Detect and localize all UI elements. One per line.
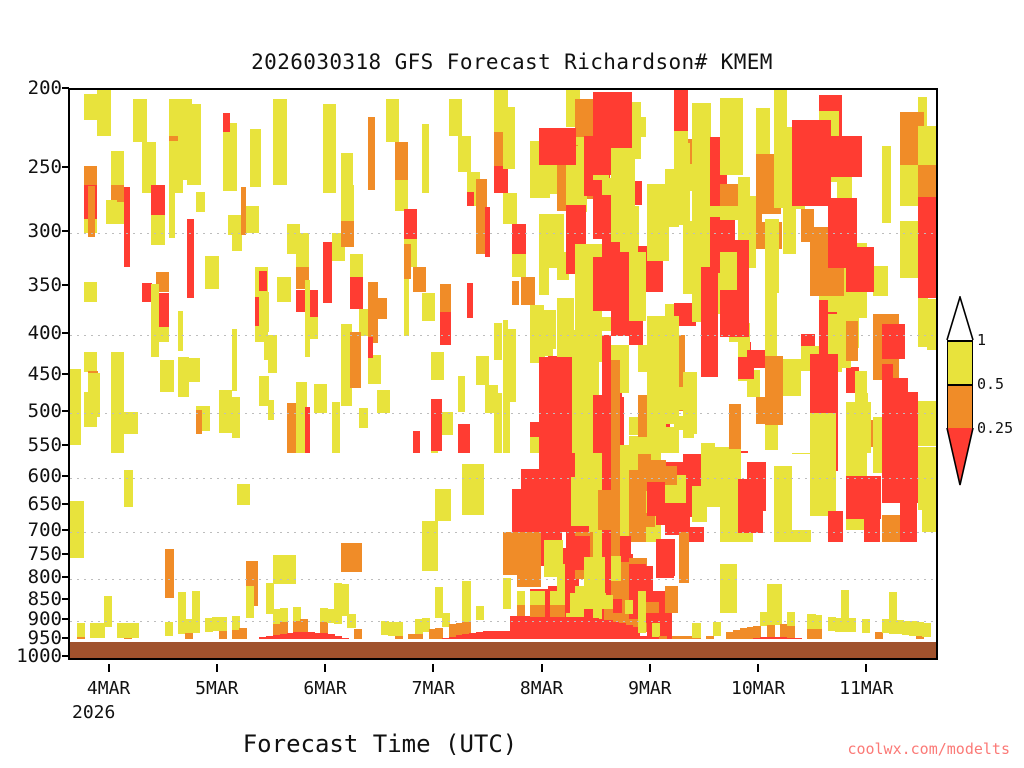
heatmap-cell	[280, 621, 288, 634]
heatmap-cell	[783, 359, 801, 396]
x-axis-tick-label-6MAR: 6MAR	[303, 678, 346, 699]
x-axis-tick-10MAR	[757, 664, 759, 672]
heatmap-cell	[503, 193, 517, 223]
heatmap-cell	[810, 413, 836, 515]
heatmap-cell	[246, 206, 260, 233]
x-axis-title: Forecast Time (UTC)	[0, 730, 760, 758]
heatmap-cell	[665, 586, 677, 613]
heatmap-cell	[584, 592, 592, 606]
heatmap-cell	[792, 530, 811, 542]
heatmap-cell	[512, 281, 519, 305]
heatmap-cell	[350, 277, 364, 309]
heatmap-cell	[683, 377, 694, 439]
heatmap-cell	[449, 99, 463, 137]
heatmap-cell	[377, 298, 387, 319]
heatmap-cell	[223, 113, 230, 132]
heatmap-cell	[521, 277, 535, 305]
heatmap-cell	[846, 247, 874, 292]
heatmap-cell	[517, 532, 542, 587]
heatmap-cell	[404, 209, 418, 239]
heatmap-cell	[259, 271, 267, 290]
heatmap-cell	[537, 604, 545, 617]
x-axis-tick-11MAR	[865, 664, 867, 672]
heatmap-cell	[268, 335, 277, 374]
heatmap-cell	[124, 470, 133, 506]
heatmap-cell	[512, 254, 526, 278]
heatmap-cell	[377, 390, 391, 413]
heatmap-cell	[187, 104, 201, 152]
x-axis-tick-label-9MAR: 9MAR	[628, 678, 671, 699]
heatmap-cell	[598, 490, 617, 530]
color-legend[interactable]: 10.50.25	[941, 296, 981, 472]
heatmap-cell	[604, 595, 612, 609]
heatmap-cell	[111, 151, 125, 185]
x-axis-tick-label-11MAR: 11MAR	[839, 678, 893, 699]
x-axis-tick-5MAR	[216, 664, 218, 672]
heatmap-cell	[250, 129, 260, 187]
heatmap-cell	[219, 413, 233, 432]
heatmap-cell	[571, 477, 593, 527]
heatmap-cell	[350, 332, 362, 388]
heatmap-cell	[462, 464, 483, 515]
heatmap-cell	[273, 99, 287, 155]
heatmap-cell	[332, 402, 341, 453]
heatmap-cell	[104, 596, 112, 627]
heatmap-cell	[124, 412, 138, 434]
heatmap-cell	[386, 99, 400, 143]
heatmap-cell	[692, 623, 700, 637]
heatmap-cell	[359, 408, 368, 428]
heatmap-cell	[440, 412, 454, 435]
heatmap-cell	[422, 521, 438, 572]
chart-page: 2026030318 GFS Forecast Richardson# KMEM…	[0, 0, 1024, 768]
heatmap-cell	[205, 256, 219, 290]
watermark: coolwx.com/modelts	[847, 740, 1010, 758]
x-axis-tick-7MAR	[432, 664, 434, 672]
heatmap-cell	[503, 578, 511, 609]
heatmap-cell	[435, 489, 451, 521]
heatmap-cell	[503, 388, 510, 453]
heatmap-cell	[604, 608, 612, 621]
heatmap-cell	[767, 624, 775, 637]
heatmap-cell	[889, 592, 897, 623]
heatmap-cell	[187, 151, 201, 185]
heatmap-cell	[787, 612, 795, 626]
heatmap-cell	[84, 166, 98, 185]
heatmap-cell	[462, 581, 470, 612]
heatmap-cell	[638, 591, 646, 622]
heatmap-cells	[70, 90, 936, 658]
heatmap-cell	[720, 252, 737, 289]
heatmap-cell	[720, 98, 743, 175]
heatmap-cell	[656, 539, 674, 576]
heatmap-cell	[720, 564, 738, 613]
heatmap-cell	[395, 142, 409, 179]
heatmap-cell	[665, 466, 677, 485]
heatmap-cell	[494, 393, 502, 453]
x-axis-tick-label-5MAR: 5MAR	[195, 678, 238, 699]
heatmap-cell	[787, 625, 795, 638]
heatmap-cell	[111, 427, 125, 453]
x-axis-tick-label-7MAR: 7MAR	[412, 678, 455, 699]
heatmap-cell	[862, 619, 870, 633]
heatmap-cell	[864, 478, 880, 542]
heatmap-cell	[539, 310, 556, 349]
heatmap-cell	[341, 221, 355, 247]
heatmap-cell	[537, 591, 545, 605]
heatmap-cell	[395, 622, 403, 636]
heatmap-cell	[178, 311, 183, 351]
heatmap-cell	[765, 356, 783, 425]
heatmap-cell	[431, 399, 442, 451]
legend-swatch-0p5[interactable]	[947, 384, 973, 428]
heatmap-cell	[517, 604, 525, 617]
heatmap-cell	[512, 224, 526, 254]
heatmap-cell	[350, 254, 364, 278]
heatmap-cell	[187, 358, 200, 382]
heatmap-cell	[160, 360, 174, 391]
heatmap-cell	[300, 619, 308, 632]
heatmap-cell	[422, 124, 429, 193]
heatmap-cell	[165, 622, 173, 636]
heatmap-cell	[413, 267, 427, 293]
heatmap-cell	[918, 126, 938, 166]
x-axis-tick-label-10MAR: 10MAR	[731, 678, 785, 699]
heatmap-cell	[765, 219, 779, 293]
heatmap-cell	[77, 623, 85, 637]
heatmap-cell	[846, 321, 859, 361]
heatmap-cell	[84, 352, 98, 372]
heatmap-cell	[774, 584, 782, 615]
heatmap-cell	[503, 320, 508, 354]
heatmap-cell	[111, 392, 125, 428]
heatmap-cell	[765, 424, 779, 450]
x-axis-tick-9MAR	[649, 664, 651, 672]
legend-label-0p5: 0.5	[977, 375, 1004, 393]
heatmap-cell	[241, 187, 246, 235]
heatmap-cell	[259, 376, 268, 406]
chart-title: 2026030318 GFS Forecast Richardson# KMEM	[0, 50, 1024, 74]
heatmap-cell	[323, 104, 337, 162]
heatmap-cell	[88, 373, 100, 416]
heatmap-cell	[296, 233, 310, 267]
heatmap-cell	[323, 242, 333, 303]
x-axis: 4MAR5MAR6MAR7MAR8MAR9MAR10MAR11MAR	[68, 664, 938, 724]
x-axis-year-label: 2026	[72, 702, 115, 723]
heatmap-cell	[900, 165, 918, 206]
heatmap-cell	[485, 207, 490, 257]
heatmap-cell	[918, 197, 938, 297]
heatmap-cell	[828, 511, 843, 542]
x-axis-tick-label-4MAR: 4MAR	[87, 678, 130, 699]
heatmap-cell	[305, 407, 310, 453]
heatmap-cell	[922, 623, 930, 637]
heatmap-cell	[652, 623, 660, 637]
legend-over-arrow-outline	[941, 296, 981, 342]
heatmap-cell	[165, 549, 174, 598]
heatmap-cell	[219, 617, 227, 631]
heatmap-cell	[458, 376, 465, 412]
heatmap-cell	[467, 283, 473, 318]
heatmap-cell	[259, 292, 269, 332]
heatmap-cell	[593, 257, 613, 311]
heatmap-cell	[476, 606, 484, 620]
heatmap-cell	[922, 483, 938, 532]
heatmap-cell	[368, 355, 382, 384]
legend-divider	[947, 340, 973, 342]
heatmap-cell	[476, 356, 490, 385]
heatmap-cell	[413, 431, 420, 454]
heatmap-cell	[774, 466, 793, 542]
heatmap-cell	[341, 584, 349, 615]
heatmap-cell	[557, 604, 565, 617]
heatmap-cell	[792, 120, 832, 206]
heatmap-cell	[196, 192, 205, 212]
heatmap-cell	[131, 623, 139, 637]
heatmap-cell	[84, 94, 98, 121]
heatmap-cell	[70, 369, 81, 445]
heatmap-cell	[557, 303, 569, 339]
heatmap-cell	[237, 484, 251, 505]
heatmap-cell	[647, 316, 679, 424]
heatmap-cell	[557, 564, 565, 595]
heatmap-cell	[341, 153, 353, 207]
heatmap-cell	[841, 590, 849, 621]
heatmap-cell	[848, 618, 856, 632]
heatmap-cell	[277, 277, 291, 302]
heatmap-cell	[70, 501, 84, 558]
heatmap-cell	[341, 543, 362, 572]
heatmap-cell	[151, 215, 165, 245]
x-axis-tick-4MAR	[108, 664, 110, 672]
y-axis-ticks	[0, 88, 70, 660]
heatmap-cell	[124, 187, 129, 268]
heatmap-cell	[246, 586, 254, 617]
heatmap-cell	[679, 532, 690, 583]
heatmap-cell	[713, 622, 721, 636]
heatmap-cell	[575, 99, 593, 137]
terrain-band	[70, 642, 936, 658]
heatmap-cell	[232, 329, 237, 390]
heatmap-cell	[494, 166, 508, 193]
heatmap-cell	[314, 384, 328, 413]
heatmap-cell	[422, 293, 436, 322]
heatmap-cell	[323, 162, 337, 194]
heatmap-cell	[97, 90, 111, 136]
heatmap-cell	[458, 424, 470, 454]
heatmap-cell	[440, 312, 451, 345]
heatmap-cell	[611, 148, 634, 242]
heatmap-cell	[882, 146, 891, 223]
heatmap-cell	[665, 447, 679, 453]
heatmap-cell	[404, 244, 411, 279]
heatmap-cell	[305, 280, 311, 357]
legend-swatch-1[interactable]	[947, 340, 973, 384]
x-axis-tick-8MAR	[541, 664, 543, 672]
heatmap-cell	[347, 614, 355, 628]
heatmap-cell	[142, 142, 156, 171]
heatmap-cell	[927, 299, 938, 350]
heatmap-cell	[151, 185, 165, 215]
legend-label-0p25: 0.25	[977, 419, 1013, 437]
heatmap-cell	[169, 141, 181, 184]
heatmap-cell	[625, 600, 633, 614]
x-axis-tick-6MAR	[324, 664, 326, 672]
legend-label-1: 1	[977, 331, 986, 349]
heatmap-cell	[629, 252, 646, 321]
heatmap-cell	[765, 291, 778, 358]
heatmap-cell	[404, 278, 409, 336]
heatmap-cell	[882, 324, 905, 359]
heatmap-cell	[111, 352, 125, 392]
heatmap-cell	[106, 202, 119, 222]
x-axis-tick-label-8MAR: 8MAR	[520, 678, 563, 699]
heatmap-cell	[192, 591, 200, 622]
heatmap-cell	[701, 267, 718, 377]
heatmap-cell	[368, 117, 376, 190]
heatmap-cell	[223, 123, 236, 191]
heatmap-cell	[151, 284, 159, 357]
heatmap-cell	[273, 555, 296, 584]
heatmap-cell	[219, 390, 233, 413]
heatmap-cell	[873, 266, 888, 296]
heatmap-cell	[187, 219, 193, 299]
heatmap-cell	[431, 352, 445, 380]
heatmap-cell	[756, 108, 771, 153]
heatmap-cell	[395, 180, 409, 211]
heatmap-cell	[458, 136, 472, 171]
heatmap-cell	[273, 154, 287, 185]
heatmap-cell	[729, 404, 741, 453]
heatmap-cell	[692, 486, 706, 522]
heatmap-cell	[753, 626, 761, 639]
heatmap-cell	[814, 615, 822, 629]
heatmap-cell	[918, 401, 938, 446]
heatmap-cell	[611, 599, 622, 613]
heatmap-cell	[494, 323, 502, 359]
heatmap-cell	[593, 453, 602, 643]
heatmap-cell	[232, 397, 239, 438]
heatmap-cell	[133, 99, 147, 143]
heatmap-cell	[467, 192, 474, 206]
heatmap-cell	[280, 608, 288, 622]
heatmap-cell	[747, 350, 766, 367]
heatmap-cell	[747, 462, 766, 511]
heatmap-cell	[88, 186, 95, 236]
heatmap-cell	[368, 337, 373, 358]
heatmap-cell	[268, 400, 273, 421]
legend-divider	[947, 384, 973, 386]
heatmap-cell	[503, 107, 515, 170]
legend-under-arrow-outline	[941, 428, 981, 490]
heatmap-cell	[900, 451, 917, 542]
heatmap-cell	[539, 128, 576, 165]
heatmap-cell	[517, 591, 525, 605]
heatmap-cell	[828, 136, 862, 177]
heatmap-cell	[701, 449, 740, 507]
plot-area	[68, 88, 938, 660]
heatmap-cell	[84, 282, 98, 302]
heatmap-cell	[196, 410, 202, 434]
heatmap-cell	[611, 556, 621, 582]
gridline-1000	[70, 658, 936, 659]
